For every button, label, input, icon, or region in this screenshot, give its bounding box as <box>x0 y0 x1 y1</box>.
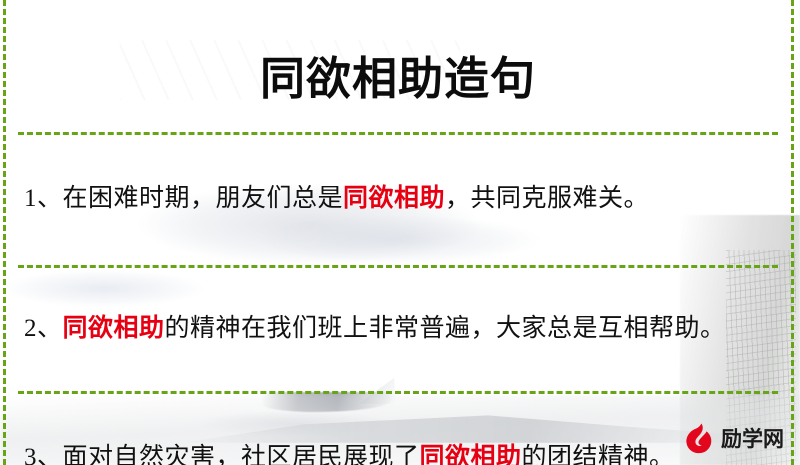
sentence-1-text-after: ，共同克服难关。 <box>445 185 649 212</box>
page-title: 同欲相助造句 <box>18 30 778 102</box>
sentence-1-keyword: 同欲相助 <box>343 185 445 212</box>
sentence-3-text-before: 面对自然灾害，社区居民展现了 <box>63 444 420 465</box>
divider-above-sentence-3 <box>18 391 778 394</box>
sentence-item-1: 1、在困难时期，朋友们总是同欲相助，共同克服难关。 <box>18 160 778 240</box>
content-column: 同欲相助造句 1、在困难时期，朋友们总是同欲相助，共同克服难关。 2、同欲相助的… <box>0 30 800 465</box>
sentence-3-number: 3、 <box>24 444 63 465</box>
dashed-border-left <box>3 0 6 465</box>
dashed-border-right <box>791 0 794 465</box>
sentence-item-2: 2、同欲相助的精神在我们班上非常普遍，大家总是互相帮助。 <box>18 293 778 366</box>
red-swirl-flame-icon <box>681 422 717 456</box>
page-root: 同欲相助造句 1、在困难时期，朋友们总是同欲相助，共同克服难关。 2、同欲相助的… <box>0 0 800 465</box>
sentence-3-keyword: 同欲相助 <box>420 444 522 465</box>
divider-above-sentence-1 <box>18 132 778 135</box>
divider-above-sentence-2 <box>18 265 778 268</box>
sentence-2-number: 2、 <box>24 315 63 342</box>
site-watermark-text: 励学网 <box>721 429 784 450</box>
sentence-3-text-after: 的团结精神。 <box>522 444 675 465</box>
sentence-2-text-after: 的精神在我们班上非常普遍，大家总是互相帮助。 <box>165 315 726 342</box>
sentence-1-number: 1、 <box>24 185 63 212</box>
site-watermark-logo: 励学网 <box>681 422 784 456</box>
sentence-item-3: 3、面对自然灾害，社区居民展现了同欲相助的团结精神。 <box>18 419 778 465</box>
sentence-2-keyword: 同欲相助 <box>63 315 165 342</box>
sentence-1-text-before: 在困难时期，朋友们总是 <box>63 185 344 212</box>
